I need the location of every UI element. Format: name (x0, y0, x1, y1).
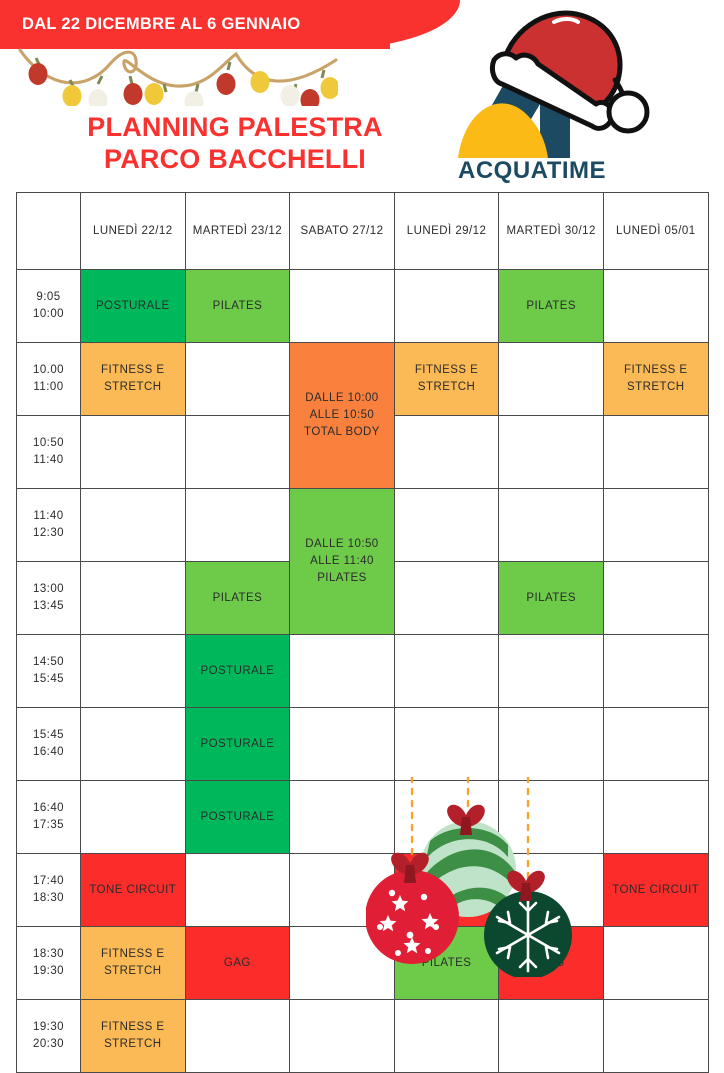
empty-cell (290, 708, 395, 781)
empty-cell (603, 781, 708, 854)
time-start: 15:45 (18, 727, 79, 744)
class-cell[interactable]: PILATES (394, 927, 499, 1000)
time-start: 10:50 (18, 435, 79, 452)
empty-cell (185, 854, 290, 927)
class-cell[interactable]: GAG (185, 927, 290, 1000)
empty-cell (499, 854, 604, 927)
time-end: 17:35 (18, 817, 79, 834)
empty-cell (394, 270, 499, 343)
empty-cell (394, 562, 499, 635)
class-cell[interactable]: FITNESS E STRETCH (81, 343, 186, 416)
class-cell[interactable]: POSTURALE (185, 781, 290, 854)
page-title-line1: PLANNING PALESTRA (0, 112, 470, 144)
time-end: 11:40 (18, 452, 79, 469)
empty-cell (81, 708, 186, 781)
empty-cell (185, 343, 290, 416)
empty-cell (81, 562, 186, 635)
class-cell[interactable]: TONE CIRCUIT (81, 854, 186, 927)
time-start: 11:40 (18, 508, 79, 525)
time-start: 16:40 (18, 800, 79, 817)
time-start: 10.00 (18, 362, 79, 379)
time-start: 19:30 (18, 1019, 79, 1036)
time-slot-cell: 10.0011:00 (17, 343, 81, 416)
empty-cell (185, 416, 290, 489)
class-cell[interactable]: POSTURALE (81, 270, 186, 343)
empty-cell (603, 270, 708, 343)
time-start: 9:05 (18, 289, 79, 306)
class-cell[interactable]: DALLE 10:00 ALLE 10:50 TOTAL BODY (290, 343, 395, 489)
empty-cell (185, 1000, 290, 1073)
empty-cell (603, 635, 708, 708)
page-title-line2: PARCO BACCHELLI (0, 144, 470, 176)
table-row: 9:0510:00POSTURALEPILATESPILATES (17, 270, 709, 343)
empty-cell (499, 781, 604, 854)
empty-cell (603, 416, 708, 489)
column-header-day-3: SABATO 27/12 (290, 193, 395, 270)
empty-cell (499, 708, 604, 781)
empty-cell (394, 635, 499, 708)
empty-cell (603, 562, 708, 635)
schedule-sheet: LUNEDÌ 22/12MARTEDÌ 23/12SABATO 27/12LUN… (16, 192, 708, 1073)
empty-cell (185, 489, 290, 562)
column-header-day-6: LUNEDÌ 05/01 (603, 193, 708, 270)
empty-cell (290, 1000, 395, 1073)
time-slot-cell: 18:3019:30 (17, 927, 81, 1000)
time-slot-cell: 15:4516:40 (17, 708, 81, 781)
empty-cell (394, 781, 499, 854)
empty-cell (81, 781, 186, 854)
time-end: 19:30 (18, 963, 79, 980)
class-cell[interactable]: DALLE 10:50 ALLE 11:40 PILATES (290, 489, 395, 635)
date-range-label: DAL 22 DICEMBRE AL 6 GENNAIO (0, 15, 301, 34)
class-cell[interactable]: POSTURALE (185, 708, 290, 781)
time-end: 10:00 (18, 306, 79, 323)
time-slot-cell: 14:5015:45 (17, 635, 81, 708)
empty-cell (499, 343, 604, 416)
empty-cell (290, 781, 395, 854)
class-cell[interactable]: FITNESS E STRETCH (81, 927, 186, 1000)
empty-cell (394, 416, 499, 489)
column-header-day-1: LUNEDÌ 22/12 (81, 193, 186, 270)
time-end: 11:00 (18, 379, 79, 396)
time-end: 12:30 (18, 525, 79, 542)
date-range-banner: DAL 22 DICEMBRE AL 6 GENNAIO (0, 0, 390, 49)
logo-wordmark: ACQUATIME (458, 157, 606, 184)
table-header-row: LUNEDÌ 22/12MARTEDÌ 23/12SABATO 27/12LUN… (17, 193, 709, 270)
class-cell[interactable]: PILATES (185, 270, 290, 343)
class-cell[interactable]: FITNESS E STRETCH (394, 343, 499, 416)
time-end: 18:30 (18, 890, 79, 907)
time-start: 17:40 (18, 873, 79, 890)
empty-cell (394, 489, 499, 562)
time-end: 20:30 (18, 1036, 79, 1053)
time-slot-cell: 17:4018:30 (17, 854, 81, 927)
column-header-day-2: MARTEDÌ 23/12 (185, 193, 290, 270)
time-slot-cell: 13:0013:45 (17, 562, 81, 635)
class-cell[interactable]: PILATES (499, 270, 604, 343)
empty-cell (603, 708, 708, 781)
class-cell[interactable]: PILATES (185, 562, 290, 635)
time-start: 13:00 (18, 581, 79, 598)
empty-cell (394, 1000, 499, 1073)
class-cell[interactable]: FITNESS E STRETCH (81, 1000, 186, 1073)
empty-cell (499, 489, 604, 562)
time-end: 15:45 (18, 671, 79, 688)
class-cell[interactable]: PILATES (499, 562, 604, 635)
table-row: 10.0011:00FITNESS E STRETCHDALLE 10:00 A… (17, 343, 709, 416)
string-lights-icon (18, 44, 338, 106)
time-slot-cell: 19:3020:30 (17, 1000, 81, 1073)
class-cell[interactable]: POSTURALE (185, 635, 290, 708)
table-corner-cell (17, 193, 81, 270)
table-row: 16:4017:35POSTURALE (17, 781, 709, 854)
empty-cell (290, 927, 395, 1000)
table-row: 17:4018:30TONE CIRCUITTONE CIRCUITTONE C… (17, 854, 709, 927)
table-row: 14:5015:45POSTURALE (17, 635, 709, 708)
time-slot-cell: 16:4017:35 (17, 781, 81, 854)
empty-cell (603, 489, 708, 562)
time-slot-cell: 10:5011:40 (17, 416, 81, 489)
empty-cell (290, 270, 395, 343)
empty-cell (290, 635, 395, 708)
time-start: 18:30 (18, 946, 79, 963)
table-row: 19:3020:30FITNESS E STRETCH (17, 1000, 709, 1073)
empty-cell (81, 489, 186, 562)
empty-cell (394, 708, 499, 781)
empty-cell (81, 416, 186, 489)
table-row: 11:4012:30DALLE 10:50 ALLE 11:40 PILATES (17, 489, 709, 562)
time-end: 16:40 (18, 744, 79, 761)
table-row: 18:3019:30FITNESS E STRETCHGAGPILATESGAG (17, 927, 709, 1000)
empty-cell (499, 1000, 604, 1073)
table-row: 15:4516:40POSTURALE (17, 708, 709, 781)
empty-cell (81, 635, 186, 708)
poster-header: DAL 22 DICEMBRE AL 6 GENNAIO (0, 0, 724, 192)
banner-rounded-tail (330, 0, 460, 49)
empty-cell (603, 1000, 708, 1073)
time-start: 14:50 (18, 654, 79, 671)
empty-cell (499, 416, 604, 489)
class-cell[interactable]: TONE CIRCUIT (394, 854, 499, 927)
acquatime-logo: ACQUATIME ACQUATIME (450, 8, 665, 186)
empty-cell (603, 927, 708, 1000)
page-title: PLANNING PALESTRA PARCO BACCHELLI (0, 112, 470, 176)
time-end: 13:45 (18, 598, 79, 615)
class-cell[interactable]: FITNESS E STRETCH (603, 343, 708, 416)
class-cell[interactable]: GAG (499, 927, 604, 1000)
time-slot-cell: 9:0510:00 (17, 270, 81, 343)
empty-cell (499, 635, 604, 708)
schedule-table: LUNEDÌ 22/12MARTEDÌ 23/12SABATO 27/12LUN… (16, 192, 709, 1073)
column-header-day-5: MARTEDÌ 30/12 (499, 193, 604, 270)
column-header-day-4: LUNEDÌ 29/12 (394, 193, 499, 270)
time-slot-cell: 11:4012:30 (17, 489, 81, 562)
empty-cell (290, 854, 395, 927)
class-cell[interactable]: TONE CIRCUIT (603, 854, 708, 927)
